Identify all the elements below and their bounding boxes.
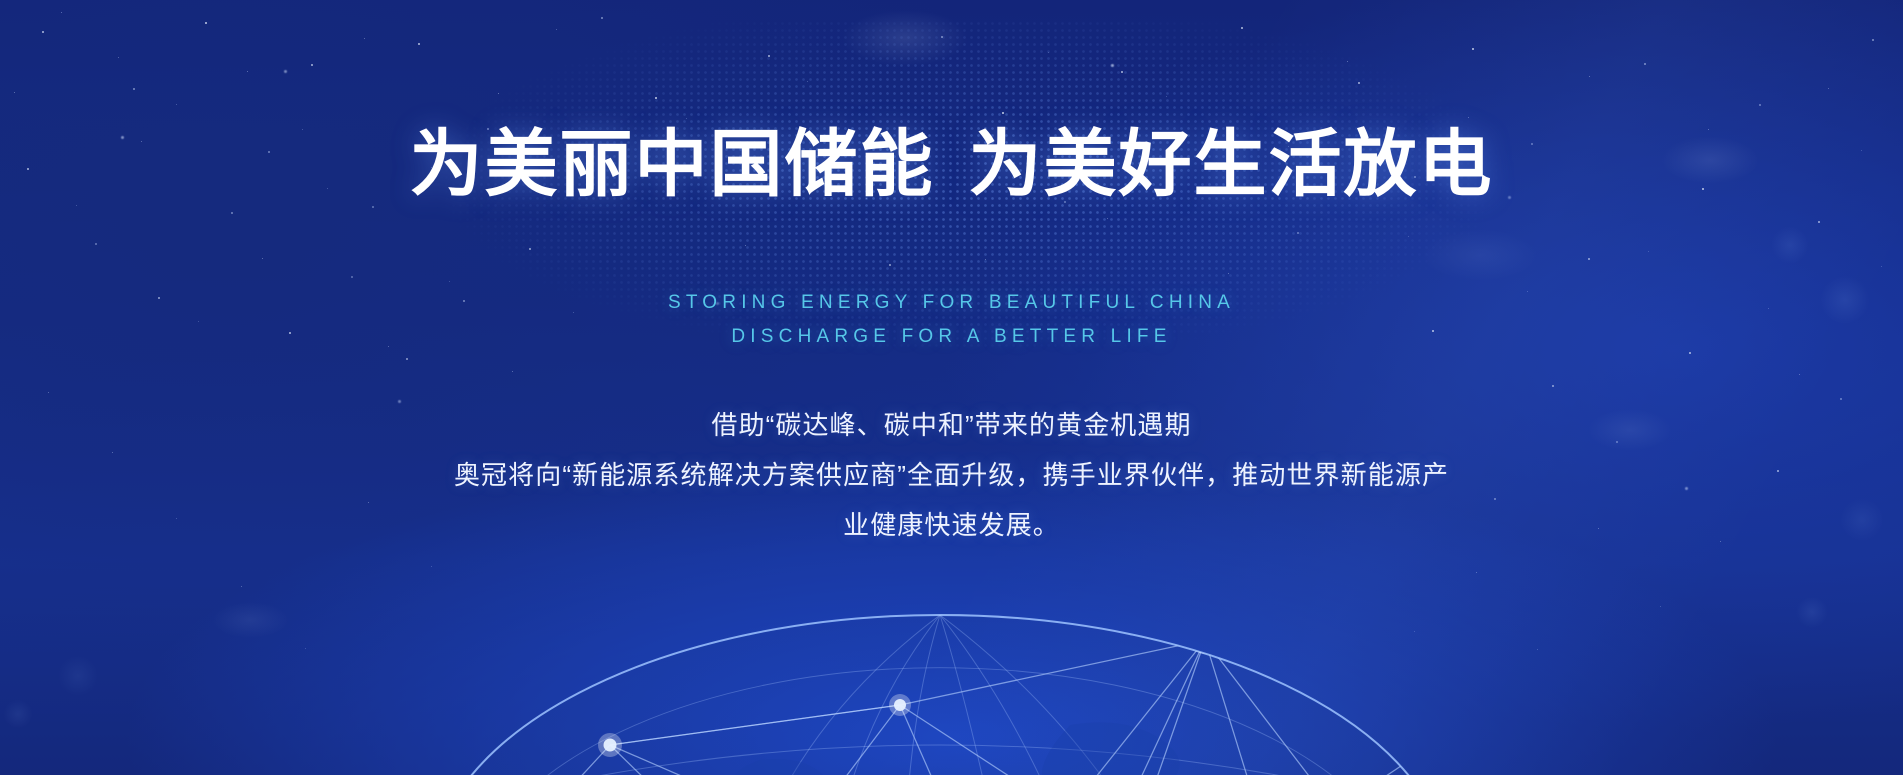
- body-line-1: 借助“碳达峰、碳中和”带来的黄金机遇期: [372, 400, 1532, 450]
- body-line-2: 奥冠将向“新能源系统解决方案供应商”全面升级，携手业界伙伴，推动世界新能源产: [372, 450, 1532, 500]
- headline-part-2: 为美好生活放电: [969, 124, 1494, 205]
- page-title: 为美丽中国储能为美好生活放电: [0, 126, 1903, 205]
- hero-banner: 为美丽中国储能为美好生活放电 STORING ENERGY FOR BEAUTI…: [0, 0, 1903, 775]
- body-line-3: 业健康快速发展。: [372, 500, 1532, 550]
- subtitle-english: STORING ENERGY FOR BEAUTIFUL CHINA DISCH…: [0, 286, 1903, 354]
- headline-part-1: 为美丽中国储能: [410, 124, 935, 205]
- subtitle-english-line-2: DISCHARGE FOR A BETTER LIFE: [0, 320, 1903, 354]
- subtitle-english-line-1: STORING ENERGY FOR BEAUTIFUL CHINA: [0, 286, 1903, 320]
- banner-content: 为美丽中国储能为美好生活放电 STORING ENERGY FOR BEAUTI…: [0, 0, 1903, 775]
- body-paragraph: 借助“碳达峰、碳中和”带来的黄金机遇期 奥冠将向“新能源系统解决方案供应商”全面…: [372, 400, 1532, 550]
